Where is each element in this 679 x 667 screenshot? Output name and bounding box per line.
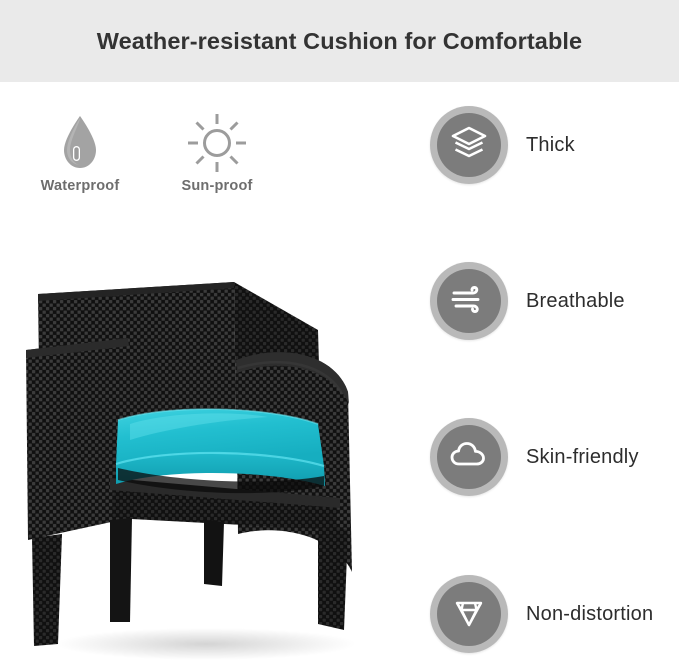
water-droplet-icon xyxy=(15,110,145,176)
feature-label-skin-friendly: Skin-friendly xyxy=(526,446,639,469)
feature-badge-breathable xyxy=(430,262,508,340)
wind-icon xyxy=(449,279,489,324)
right-feature-list: Thick Breathable xyxy=(430,82,679,662)
feature-non-distortion: Non-distortion xyxy=(430,574,653,654)
feature-thick: Thick xyxy=(430,105,575,185)
diamond-icon xyxy=(449,592,489,637)
page-title: Weather-resistant Cushion for Comfortabl… xyxy=(97,28,582,55)
feature-badge-thick xyxy=(430,106,508,184)
feature-label-breathable: Breathable xyxy=(526,290,625,313)
feature-label-thick: Thick xyxy=(526,134,575,157)
left-feature-group: Waterproof S xyxy=(12,110,282,250)
sun-icon xyxy=(152,110,282,176)
feature-label-non-distortion: Non-distortion xyxy=(526,603,653,626)
product-image xyxy=(18,272,388,662)
header-band: Weather-resistant Cushion for Comfortabl… xyxy=(0,0,679,82)
feature-badge-non-distortion xyxy=(430,575,508,653)
content-stage: Waterproof S xyxy=(0,82,679,662)
feature-skin-friendly: Skin-friendly xyxy=(430,417,639,497)
cloud-icon xyxy=(448,434,490,481)
feature-waterproof: Waterproof xyxy=(15,110,145,194)
feature-sun-proof: Sun-proof xyxy=(152,110,282,194)
badge-inner-disc xyxy=(437,269,501,333)
badge-inner-disc xyxy=(437,582,501,646)
badge-inner-disc xyxy=(437,425,501,489)
layers-icon xyxy=(449,123,489,168)
feature-breathable: Breathable xyxy=(430,261,625,341)
feature-label-sun-proof: Sun-proof xyxy=(152,178,282,194)
badge-inner-disc xyxy=(437,113,501,177)
feature-label-waterproof: Waterproof xyxy=(15,178,145,194)
feature-badge-skin-friendly xyxy=(430,418,508,496)
